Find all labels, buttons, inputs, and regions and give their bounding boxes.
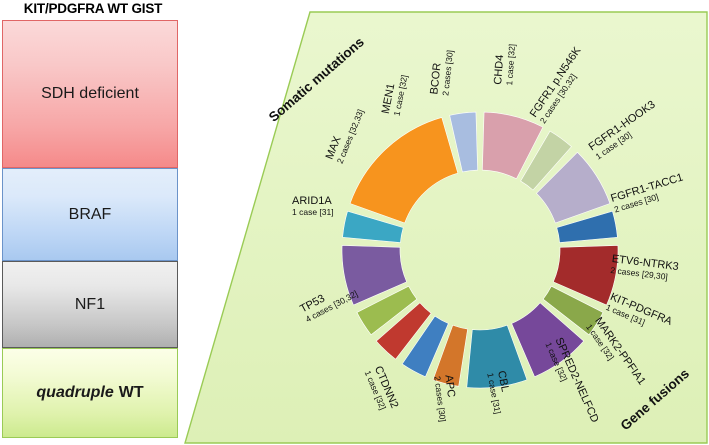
category-label-braf: BRAF [69, 206, 112, 224]
slice-gene-arid1a: ARID1A [292, 196, 334, 208]
category-label-sdh-deficient: SDH deficient [41, 85, 139, 103]
category-label-nf1: NF1 [75, 296, 105, 314]
category-box-quadruple-wt: quadrupleWT [2, 348, 178, 438]
category-box-sdh-deficient: SDH deficient [2, 20, 178, 168]
category-box-braf: BRAF [2, 168, 178, 261]
kit-pdgfra-wt-gist-panel: KIT/PDGFRA WT GIST SDH deficient BRAF NF… [2, 0, 184, 445]
category-label-quadruple: quadruple [36, 384, 113, 402]
page-title: KIT/PDGFRA WT GIST [2, 0, 184, 20]
donut-chart [337, 107, 623, 393]
slice-label-arid1a: ARID1A 1 case [31] [292, 196, 334, 216]
donut-slice-tp53 [350, 117, 458, 223]
category-box-nf1: NF1 [2, 261, 178, 348]
figure-root: Somatic mutations Gene fusions MAX 2 cas… [0, 0, 709, 445]
slice-cases-arid1a: 1 case [31] [292, 208, 334, 217]
donut-chart-svg [337, 107, 623, 393]
category-label-wt: WT [119, 384, 144, 402]
donut-slice-group [342, 112, 618, 388]
slice-label-apc: APC 2 cases [30] [433, 374, 459, 422]
slice-label-chd4: CHD4 1 case [32] [493, 43, 516, 86]
